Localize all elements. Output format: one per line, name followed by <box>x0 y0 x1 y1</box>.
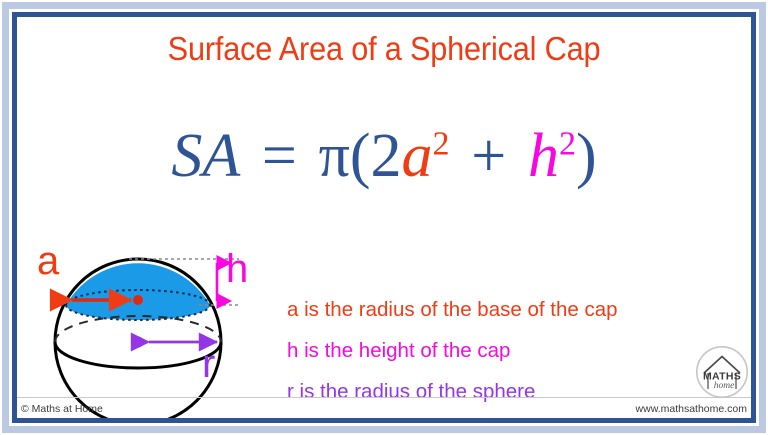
legend-list: a is the radius of the base of the cap h… <box>287 289 737 412</box>
formula-close-paren: ) <box>576 122 597 190</box>
footer-divider <box>17 397 751 398</box>
cap-centre-dot <box>133 295 143 305</box>
page-title: Surface Area of a Spherical Cap <box>43 30 726 68</box>
formula-lhs: SA <box>171 122 240 190</box>
formula-pi-symbol: π <box>319 122 350 190</box>
formula-coefficient: 2 <box>371 122 402 190</box>
formula-open-paren: ( <box>350 122 371 190</box>
formula-variable-a: a <box>402 122 433 190</box>
cap-fill-region <box>66 263 210 320</box>
diagram-label-r: r <box>202 344 215 384</box>
formula-display: SA = π(2a2 + h2) <box>17 125 751 187</box>
legend-item-h: h is the height of the cap <box>287 330 737 371</box>
formula-variable-h: h <box>528 122 559 190</box>
spherical-cap-diagram: a h r <box>21 227 291 418</box>
formula-equals: = <box>262 122 297 190</box>
sphere-illustration <box>21 227 291 418</box>
website-url: www.mathsathome.com <box>636 403 747 415</box>
diagram-label-h: h <box>226 249 248 289</box>
slide-canvas: Surface Area of a Spherical Cap SA = π(2… <box>0 0 768 435</box>
logo-script-text: home <box>714 381 735 391</box>
formula-exponent-a: 2 <box>433 125 450 162</box>
logo-house-icon: MATHS home <box>695 345 749 399</box>
sphere-centre-dot <box>133 337 144 348</box>
mathsathome-logo: MATHS home <box>695 345 749 399</box>
formula-exponent-h: 2 <box>559 125 576 162</box>
diagram-label-a: a <box>37 241 59 281</box>
content-area: Surface Area of a Spherical Cap SA = π(2… <box>17 17 751 418</box>
formula-plus: + <box>471 122 506 190</box>
legend-item-a: a is the radius of the base of the cap <box>287 289 737 330</box>
copyright-text: © Maths at Home <box>21 403 103 415</box>
